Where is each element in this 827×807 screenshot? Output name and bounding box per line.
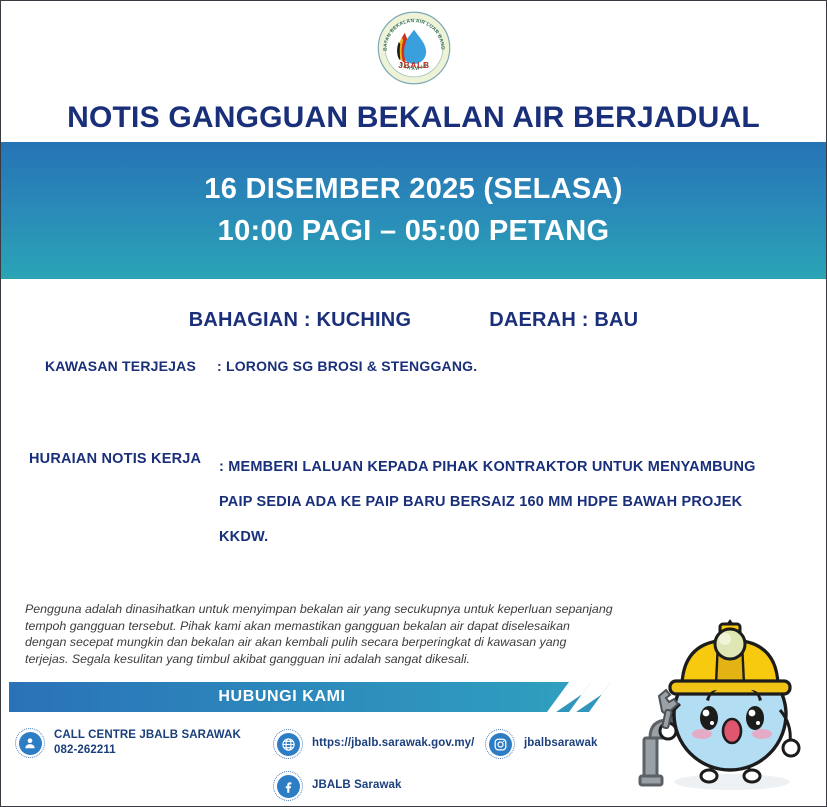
logo-header: JBALB JABATAN BEKALAN AIR LUAR BANDAR SA…: [1, 1, 826, 94]
jbalb-logo-icon: JBALB JABATAN BEKALAN AIR LUAR BANDAR SA…: [376, 10, 452, 86]
division-label: BAHAGIAN : KUCHING: [189, 309, 411, 332]
contact-facebook[interactable]: JBALB Sarawak: [273, 771, 402, 801]
contact-heading-shape: HUBUNGI KAMI: [9, 682, 569, 712]
facebook-icon: [273, 771, 303, 801]
call-centre-text: CALL CENTRE JBALB SARAWAK 082-262211: [54, 728, 241, 758]
contact-call-centre[interactable]: CALL CENTRE JBALB SARAWAK 082-262211: [15, 728, 241, 758]
affected-area-label: KAWASAN TERJEJAS: [45, 358, 217, 374]
contact-instagram[interactable]: jbalbsarawak: [485, 729, 597, 759]
decor-stripe-2: [576, 682, 611, 712]
instagram-icon: [485, 729, 515, 759]
date-time-banner: 16 DISEMBER 2025 (SELASA) 10:00 PAGI – 0…: [1, 142, 826, 279]
title-zone: NOTIS GANGGUAN BEKALAN AIR BERJADUAL: [1, 94, 826, 142]
affected-area-row: KAWASAN TERJEJAS : LORONG SG BROSI & STE…: [1, 358, 826, 374]
work-description-line-1: : MEMBERI LALUAN KEPADA PIHAK KONTRAKTOR…: [219, 450, 756, 485]
facebook-handle: JBALB Sarawak: [312, 778, 402, 793]
person-icon: [15, 728, 45, 758]
work-description-label: HURAIAN NOTIS KERJA: [29, 450, 219, 467]
water-disruption-notice-poster: JBALB JABATAN BEKALAN AIR LUAR BANDAR SA…: [0, 0, 827, 807]
affected-area-value: : LORONG SG BROSI & STENGGANG.: [217, 358, 477, 374]
work-description-row: HURAIAN NOTIS KERJA : MEMBERI LALUAN KEP…: [1, 450, 826, 554]
contact-website[interactable]: https://jbalb.sarawak.gov.my/: [273, 729, 474, 759]
contact-heading-bar: HUBUNGI KAMI: [9, 682, 649, 712]
work-description-value: : MEMBERI LALUAN KEPADA PIHAK KONTRAKTOR…: [219, 450, 756, 554]
call-centre-number: 082-262211: [54, 743, 241, 758]
disruption-date: 16 DISEMBER 2025 (SELASA): [204, 171, 622, 208]
globe-icon: [273, 729, 303, 759]
disruption-time: 10:00 PAGI – 05:00 PETANG: [218, 213, 610, 250]
work-description-line-2: PAIP SEDIA ADA KE PAIP BARU BERSAIZ 160 …: [219, 485, 756, 520]
water-droplet-mascot-icon: [628, 588, 824, 802]
district-label: DAERAH : BAU: [489, 309, 638, 332]
disclaimer-text: Pengguna adalah dinasihatkan untuk menyi…: [25, 601, 613, 667]
division-row: BAHAGIAN : KUCHING DAERAH : BAU: [1, 309, 826, 332]
contact-heading-label: HUBUNGI KAMI: [218, 688, 359, 706]
work-description-line-3: KKDW.: [219, 520, 756, 555]
contact-list: CALL CENTRE JBALB SARAWAK 082-262211 htt…: [1, 719, 661, 805]
call-centre-name: CALL CENTRE JBALB SARAWAK: [54, 729, 241, 741]
website-url: https://jbalb.sarawak.gov.my/: [312, 736, 474, 751]
instagram-handle: jbalbsarawak: [524, 736, 597, 751]
page-title: NOTIS GANGGUAN BEKALAN AIR BERJADUAL: [67, 101, 760, 135]
